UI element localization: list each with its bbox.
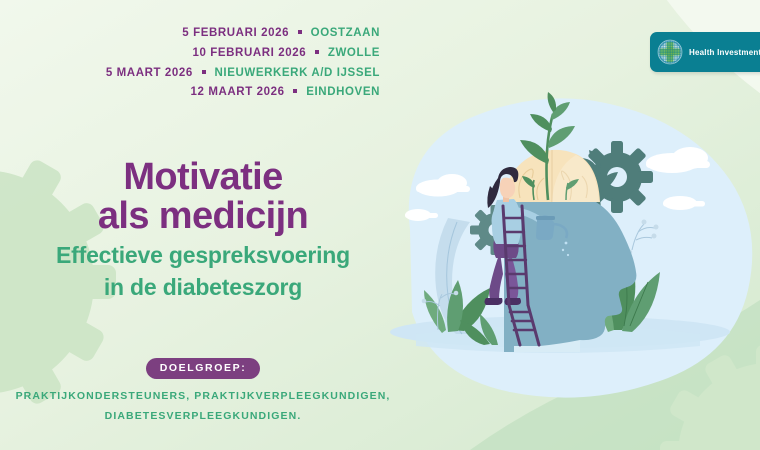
headline-line-2: als medicijn: [8, 197, 398, 236]
date-where: EINDHOVEN: [306, 86, 380, 98]
date-row: 10 FEBRUARI 2026 ZWOLLE: [0, 44, 380, 64]
date-where: NIEUWERKERK A/D IJSSEL: [215, 67, 381, 79]
poster-canvas: 5 FEBRUARI 2026 OOSTZAAN 10 FEBRUARI 202…: [0, 0, 760, 450]
date-when: 10 FEBRUARI 2026: [192, 47, 306, 59]
date-when: 5 FEBRUARI 2026: [182, 27, 289, 39]
date-row: 5 FEBRUARI 2026 OOSTZAAN: [0, 24, 380, 44]
date-row: 5 MAART 2026 NIEUWERKERK A/D IJSSEL: [0, 64, 380, 84]
date-separator-icon: [293, 89, 297, 93]
date-where: ZWOLLE: [328, 47, 380, 59]
date-where: OOSTZAAN: [311, 27, 380, 39]
date-separator-icon: [298, 30, 302, 34]
audience-badge: DOELGROEP:: [146, 358, 261, 379]
health-investment-logo[interactable]: Health Investment: [650, 32, 760, 72]
subheadline-line-1: Effectieve gespreksvoering: [8, 242, 398, 268]
audience-line: PRAKTIJKONDERSTEUNERS, PRAKTIJKVERPLEEGK…: [8, 386, 398, 406]
logo-text: Health Investment: [689, 48, 760, 57]
pixel-globe-icon: [657, 39, 683, 65]
audience-lines: PRAKTIJKONDERSTEUNERS, PRAKTIJKVERPLEEGK…: [8, 386, 398, 427]
audience-line: DIABETESVERPLEEGKUNDIGEN.: [8, 406, 398, 426]
dates-list: 5 FEBRUARI 2026 OOSTZAAN 10 FEBRUARI 202…: [0, 24, 380, 103]
date-separator-icon: [315, 50, 319, 54]
date-when: 5 MAART 2026: [106, 67, 193, 79]
headline-block: Motivatie als medicijn Effectieve gespre…: [8, 158, 398, 301]
audience-block: DOELGROEP: PRAKTIJKONDERSTEUNERS, PRAKTI…: [8, 358, 398, 427]
subheadline-line-2: in de diabeteszorg: [8, 274, 398, 300]
date-row: 12 MAART 2026 EINDHOVEN: [0, 83, 380, 103]
date-separator-icon: [202, 70, 206, 74]
date-when: 12 MAART 2026: [191, 86, 285, 98]
headline-line-1: Motivatie: [8, 158, 398, 197]
